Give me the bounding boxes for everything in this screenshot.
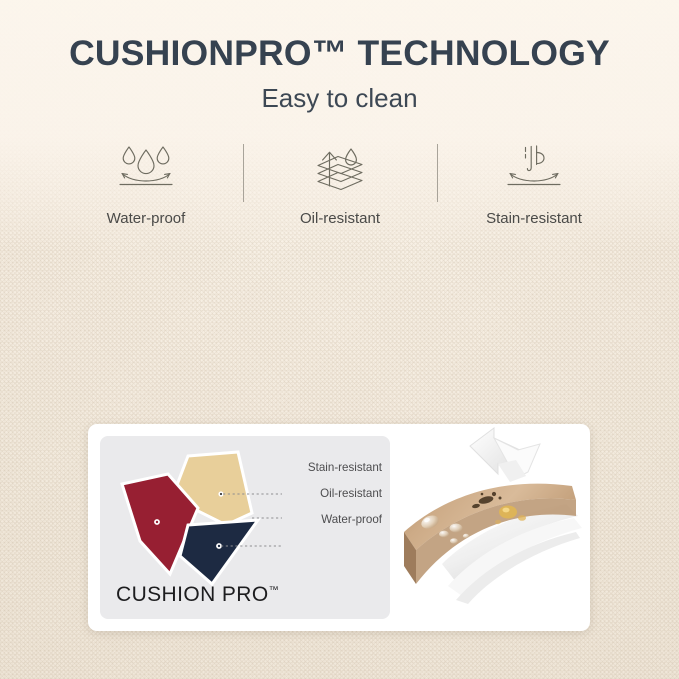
page-subtitle: Easy to clean [0, 74, 679, 114]
feature-label-oil-resistant: Oil-resistant [300, 210, 380, 227]
product-photo-panel [390, 424, 590, 631]
page-title: CUSHIONPRO™ TECHNOLOGY [0, 0, 679, 74]
feature-divider-1 [243, 144, 244, 202]
callout-label-stain-resistant: Stain-resistant [270, 462, 382, 474]
water-droplets-repel-icon [114, 138, 178, 194]
feature-label-stain-resistant: Stain-resistant [486, 210, 582, 227]
trademark-symbol: ™ [269, 585, 279, 596]
layered-sheets-arrow-droplet-icon [308, 138, 372, 194]
liquid-flow-repel-icon [502, 138, 566, 194]
cushion-pro-logo: CUSHION PRO™ [116, 583, 279, 607]
callout-label-group: Stain-resistant Oil-resistant Water-proo… [270, 462, 382, 540]
feature-label-water-proof: Water-proof [107, 210, 186, 227]
cushion-pro-diagram-panel: Stain-resistant Oil-resistant Water-proo… [100, 436, 390, 619]
cushion-pro-logo-text: CUSHION PRO [116, 583, 269, 606]
curved-cushion-pad [390, 424, 590, 631]
feature-stain-resistant: Stain-resistant [448, 138, 620, 227]
feature-water-proof: Water-proof [60, 138, 232, 227]
navy-polygon [180, 520, 258, 584]
infographic-canvas: CUSHIONPRO™ TECHNOLOGY Easy to clean [0, 0, 679, 679]
feature-oil-resistant: Oil-resistant [254, 138, 426, 227]
up-arrow-icon [470, 428, 540, 482]
product-detail-card: Stain-resistant Oil-resistant Water-proo… [88, 424, 590, 631]
callout-label-water-proof: Water-proof [270, 514, 382, 526]
feature-divider-2 [437, 144, 438, 202]
feature-row: Water-proof Oil-resistant [60, 138, 620, 227]
callout-label-oil-resistant: Oil-resistant [270, 488, 382, 500]
header: CUSHIONPRO™ TECHNOLOGY Easy to clean [0, 0, 679, 114]
